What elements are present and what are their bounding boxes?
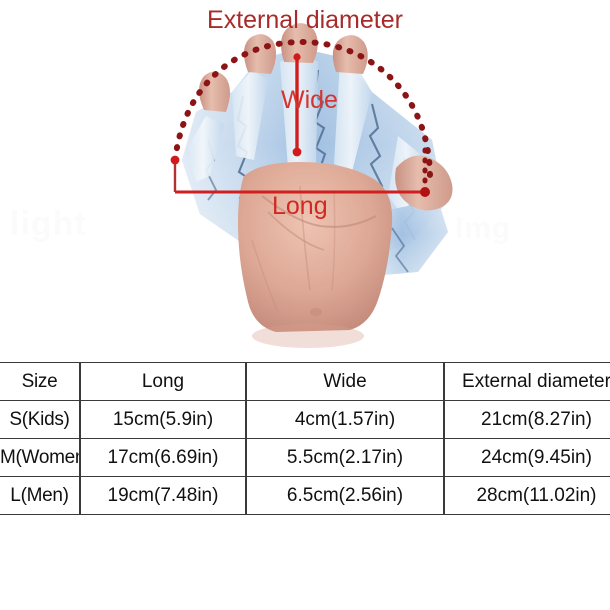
header-external-diameter: External diameter <box>444 363 610 401</box>
cell-long: 17cm(6.69in) <box>80 439 246 477</box>
product-measurement-illustration: light Img External diameter Wide Long <box>0 0 610 362</box>
cell-long: 15cm(5.9in) <box>80 401 246 439</box>
external-diameter-label: External diameter <box>207 6 403 35</box>
cell-external-diameter: 24cm(9.45in) <box>444 439 610 477</box>
size-chart-table: Size Long Wide External diameter S(Kids)… <box>0 362 610 515</box>
measure-point-web-center <box>293 148 302 157</box>
cell-long: 19cm(7.48in) <box>80 477 246 515</box>
cell-size: L(Men) <box>0 477 80 515</box>
cell-external-diameter: 21cm(8.27in) <box>444 401 610 439</box>
cell-wide: 6.5cm(2.56in) <box>246 477 444 515</box>
header-wide: Wide <box>246 363 444 401</box>
measure-point-fingertip <box>293 53 300 60</box>
table-row: S(Kids) 15cm(5.9in) 4cm(1.57in) 21cm(8.2… <box>0 401 610 439</box>
header-size: Size <box>0 363 80 401</box>
cell-size: M(Women) <box>0 439 80 477</box>
cell-external-diameter: 28cm(11.02in) <box>444 477 610 515</box>
table-row: L(Men) 19cm(7.48in) 6.5cm(2.56in) 28cm(1… <box>0 477 610 515</box>
measure-point-pinky <box>420 187 430 197</box>
measure-point-thumb <box>171 156 180 165</box>
cell-wide: 5.5cm(2.17in) <box>246 439 444 477</box>
hand-webbing-diagram <box>0 0 610 362</box>
long-label: Long <box>272 192 328 221</box>
cell-wide: 4cm(1.57in) <box>246 401 444 439</box>
table-row: M(Women) 17cm(6.69in) 5.5cm(2.17in) 24cm… <box>0 439 610 477</box>
table-header-row: Size Long Wide External diameter <box>0 363 610 401</box>
header-long: Long <box>80 363 246 401</box>
wide-label: Wide <box>281 86 338 115</box>
cell-size: S(Kids) <box>0 401 80 439</box>
